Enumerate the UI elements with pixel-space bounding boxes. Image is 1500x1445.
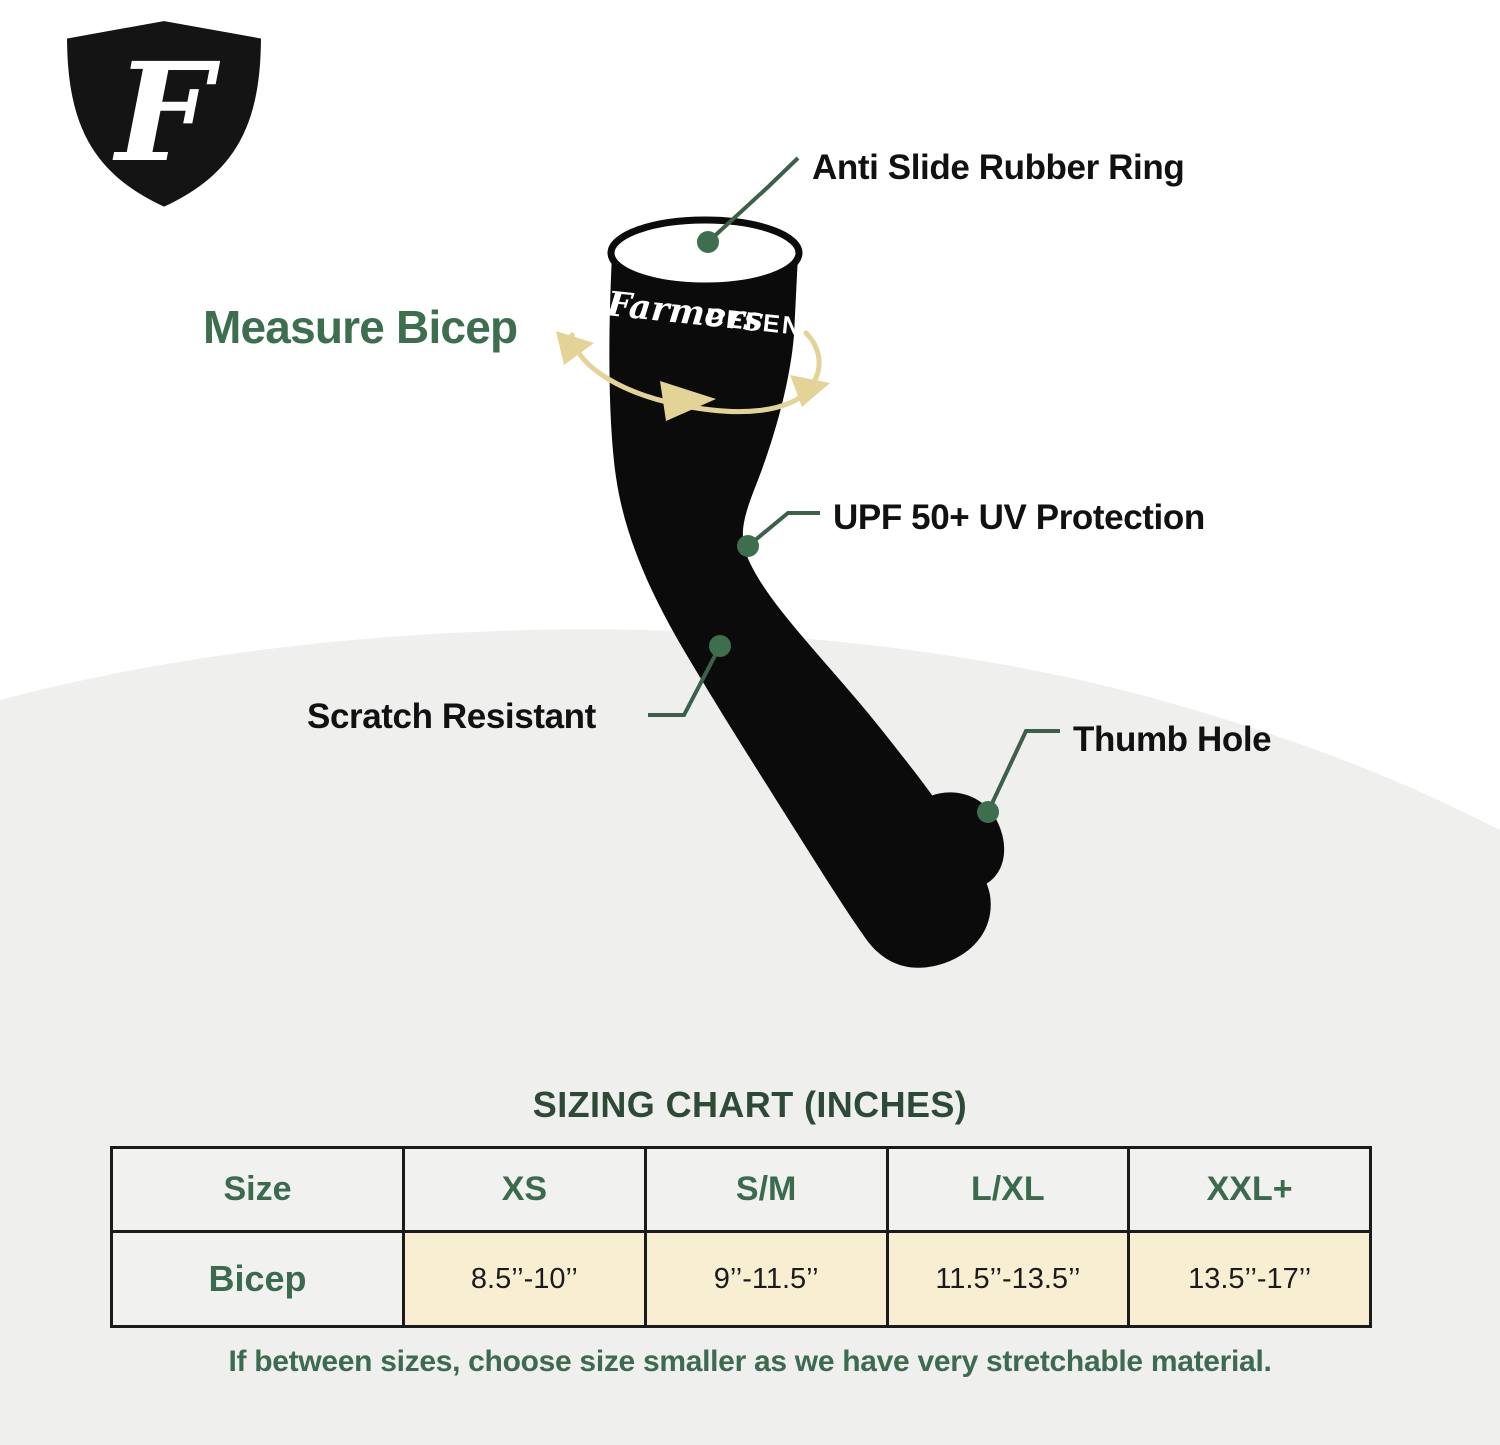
anchor-dot-anti-slide	[697, 231, 719, 253]
callout-label-upf-protection: UPF 50+ UV Protection	[833, 498, 1205, 538]
anchor-dot-upf	[737, 535, 759, 557]
sizing-chart-table: Size XS S/M L/XL XXL+ Bicep 8.5’’-10’’ 9…	[110, 1146, 1372, 1328]
callout-label-scratch-resistant: Scratch Resistant	[307, 697, 596, 737]
callout-label-measure-bicep: Measure Bicep	[203, 300, 517, 354]
table-header-xxl: XXL+	[1129, 1148, 1371, 1232]
table-header-size: Size	[112, 1148, 404, 1232]
callout-label-thumb-hole: Thumb Hole	[1073, 720, 1271, 760]
table-row-label-bicep: Bicep	[112, 1232, 404, 1327]
table-cell-bicep-sm: 9’’-11.5’’	[645, 1232, 887, 1327]
table-row-bicep: Bicep 8.5’’-10’’ 9’’-11.5’’ 11.5’’-13.5’…	[112, 1232, 1371, 1327]
leader-line-upf	[748, 513, 820, 546]
table-header-sm: S/M	[645, 1148, 887, 1232]
table-header-lxl: L/XL	[887, 1148, 1129, 1232]
sizing-chart-title: SIZING CHART (INCHES)	[0, 1084, 1500, 1126]
anchor-dot-thumb	[977, 801, 999, 823]
callout-label-anti-slide-rubber-ring: Anti Slide Rubber Ring	[812, 148, 1184, 188]
sizing-footnote: If between sizes, choose size smaller as…	[0, 1345, 1500, 1379]
infographic-canvas: F Farmers DEFENSE	[0, 0, 1500, 1445]
table-cell-bicep-xxl: 13.5’’-17’’	[1129, 1232, 1371, 1327]
anchor-dot-scratch	[709, 635, 731, 657]
leader-line-thumb	[988, 731, 1060, 812]
table-cell-bicep-xs: 8.5’’-10’’	[404, 1232, 646, 1327]
leader-line-scratch	[648, 646, 720, 715]
table-header-xs: XS	[404, 1148, 646, 1232]
table-header-row: Size XS S/M L/XL XXL+	[112, 1148, 1371, 1232]
table-cell-bicep-lxl: 11.5’’-13.5’’	[887, 1232, 1129, 1327]
leader-line-anti-slide	[708, 158, 798, 242]
